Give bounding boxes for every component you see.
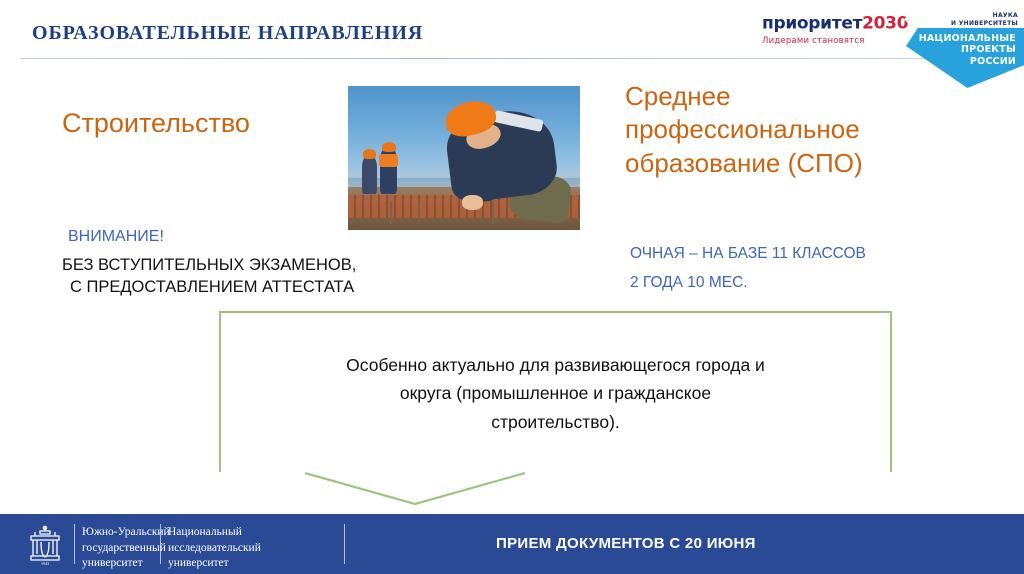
np-bot-line2: ПРОЕКТЫ (919, 44, 1016, 55)
national-projects-top-text: НАУКА И УНИВЕРСИТЕТЫ (951, 12, 1018, 28)
photo-background-vest (379, 154, 398, 167)
attention-line2: С ПРЕДОСТАВЛЕНИЕМ АТТЕСТАТА (62, 277, 356, 299)
callout-line3: строительство). (255, 408, 856, 436)
university-name-line1: Южно-Уральский (82, 525, 170, 541)
university-name-line2: государственный (82, 541, 170, 557)
spo-heading-line3: образование (СПО) (625, 147, 985, 180)
photo-background-helmet-icon (382, 142, 396, 152)
priority-logo-word: приоритет (762, 14, 862, 34)
callout-text: Особенно актуально для развивающегося го… (221, 351, 890, 436)
priority-logo-tagline: Лидерами становятся (762, 37, 917, 46)
callout-line2: округа (промышленное и гражданское (255, 379, 856, 407)
photo-rebar (418, 201, 420, 224)
callout-tail-icon (219, 472, 892, 512)
university-name: Южно-Уральский государственный университ… (82, 525, 170, 572)
photo-rebar (390, 201, 392, 224)
national-projects-bottom-text: НАЦИОНАЛЬНЫЕ ПРОЕКТЫ РОССИИ (919, 33, 1016, 67)
attention-label: ВНИМАНИЕ! (68, 228, 164, 246)
attention-body: БЕЗ ВСТУПИТЕЛЬНЫХ ЭКЗАМЕНОВ, С ПРЕДОСТАВ… (62, 255, 356, 299)
footer-divider (344, 524, 345, 564)
attention-line1: БЕЗ ВСТУПИТЕЛЬНЫХ ЭКЗАМЕНОВ, (62, 256, 356, 274)
footer-divider (160, 524, 161, 564)
np-bot-line1: НАЦИОНАЛЬНЫЕ (919, 33, 1016, 44)
study-form-line1: ОЧНАЯ – НА БАЗЕ 11 КЛАССОВ (630, 240, 866, 269)
university-subtitle-line2: исследовательский (168, 541, 261, 557)
construction-workers-photo (348, 86, 580, 230)
priority-logo-wordmark: приоритет2030^ (762, 13, 917, 33)
photo-rebar (492, 201, 494, 224)
study-form-info: ОЧНАЯ – НА БАЗЕ 11 КЛАССОВ 2 ГОДА 10 МЕС… (630, 240, 866, 297)
national-projects-logo: НАУКА И УНИВЕРСИТЕТЫ НАЦИОНАЛЬНЫЕ ПРОЕКТ… (904, 0, 1024, 88)
university-emblem-icon: 1943 (22, 522, 68, 568)
program-title: Строительство (62, 108, 250, 139)
footer-cta-text: ПРИЕМ ДОКУМЕНТОВ С 20 ИЮНЯ (496, 535, 756, 552)
priority-2030-logo: приоритет2030^ Лидерами становятся (762, 13, 917, 45)
slide-canvas: ОБРАЗОВАТЕЛЬНЫЕ НАПРАВЛЕНИЯ приоритет203… (0, 0, 1024, 574)
photo-background-worker (362, 157, 377, 194)
page-title: ОБРАЗОВАТЕЛЬНЫЕ НАПРАВЛЕНИЯ (32, 22, 423, 45)
priority-logo-year: 2030 (862, 14, 908, 34)
footer-divider (74, 524, 75, 564)
photo-background-helmet-icon (363, 149, 376, 158)
header-divider (20, 58, 925, 59)
callout-box: Особенно актуально для развивающегося го… (219, 311, 892, 474)
np-top-line1: НАУКА (951, 12, 1018, 20)
university-subtitle: Национальный исследовательский университ… (168, 525, 261, 572)
spo-heading-line1: Среднее (625, 80, 985, 113)
spo-heading-line2: профессиональное (625, 113, 985, 146)
np-bot-line3: РОССИИ (919, 56, 1016, 67)
university-subtitle-line3: университет (168, 556, 261, 572)
footer-bar: 1943 Южно-Уральский государственный унив… (0, 514, 1024, 574)
university-name-line3: университет (82, 556, 170, 572)
spo-heading: Среднее профессиональное образование (СП… (625, 80, 985, 180)
svg-text:1943: 1943 (41, 561, 49, 566)
np-top-line2: И УНИВЕРСИТЕТЫ (951, 20, 1018, 28)
callout-line1: Особенно актуально для развивающегося го… (255, 351, 856, 379)
university-subtitle-line1: Национальный (168, 525, 261, 541)
photo-worker-hand (462, 195, 483, 209)
study-form-line2: 2 ГОДА 10 МЕС. (630, 269, 866, 298)
